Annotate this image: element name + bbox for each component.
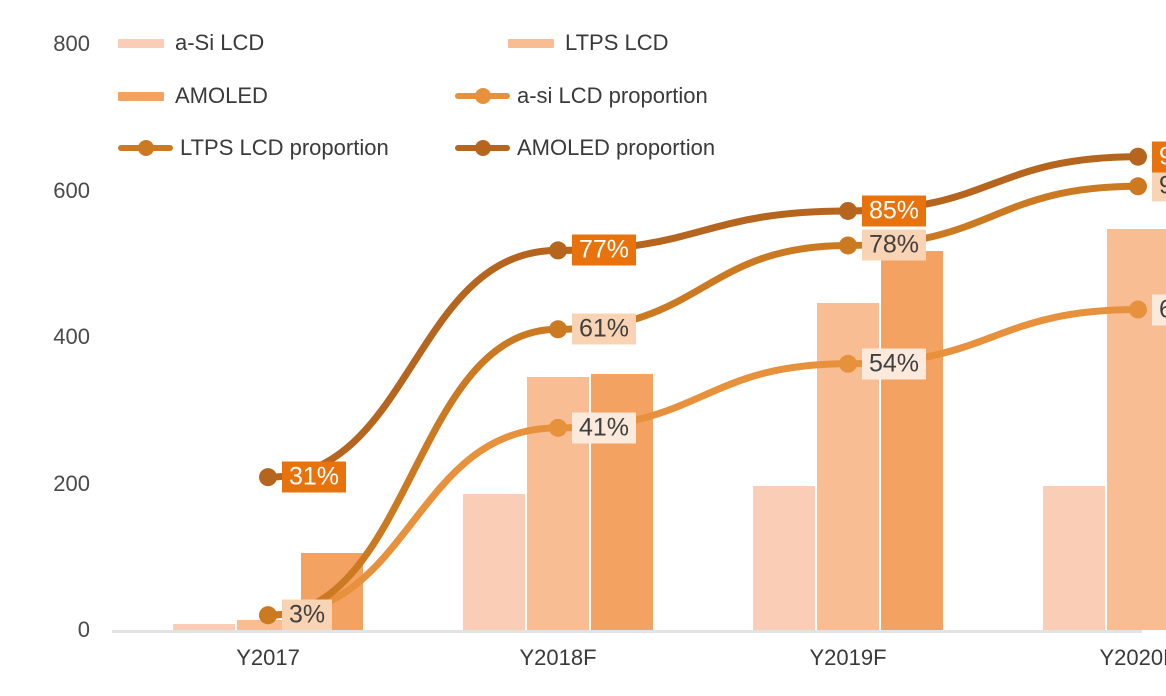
marker-ltps-lcd-proportion-Y2018F [549,320,567,338]
x-axis-line [112,630,1142,633]
data-label-amoled-proportion-Y2017: 31% [282,462,346,493]
line-ltps-lcd-proportion [268,186,1138,615]
data-label-ltps-lcd-proportion-Y2020F: 90% [1152,171,1166,202]
data-label-ltps-lcd-proportion-Y2017: 3% [282,600,332,631]
y-axis-tick-label: 800 [28,31,90,57]
data-label-ltps-lcd-proportion-Y2019F: 78% [862,230,926,261]
x-axis-tick-label-Y2019F: Y2019F [809,645,886,671]
data-label-amoled-proportion-Y2020F: 96% [1152,141,1166,172]
data-label-amoled-proportion-Y2019F: 85% [862,195,926,226]
line-amoled-proportion [268,157,1138,477]
bar-a-si-lcd-Y2018F [463,494,525,630]
data-label-a-si-lcd-proportion-Y2018F: 41% [572,412,636,443]
line-a-si-lcd-proportion [268,310,1138,616]
y-axis-tick-label: 600 [28,178,90,204]
data-label-ltps-lcd-proportion-Y2018F: 61% [572,314,636,345]
bar-a-si-lcd-Y2020F [1043,486,1105,630]
x-axis-tick-label-Y2017: Y2017 [236,645,300,671]
marker-amoled-proportion-Y2019F [839,202,857,220]
marker-amoled-proportion-Y2017 [259,468,277,486]
x-axis-tick-label-Y2020F: Y2020F [1099,645,1166,671]
y-axis-tick-label: 0 [28,617,90,643]
bar-amoled-Y2019F [881,251,943,630]
y-axis-tick-label: 200 [28,471,90,497]
chart-container: a-Si LCD LTPS LCD AMOLED a-si LCD propor… [0,0,1166,696]
bar-ltps-lcd-Y2020F [1107,229,1166,630]
data-label-amoled-proportion-Y2018F: 77% [572,235,636,266]
x-axis-tick-label-Y2018F: Y2018F [519,645,596,671]
marker-amoled-proportion-Y2018F [549,241,567,259]
marker-amoled-proportion-Y2020F [1129,148,1147,166]
plot-area: 0200400600800 3%41%54%65%3%61%78%90%31%7… [0,0,1166,696]
data-label-a-si-lcd-proportion-Y2019F: 54% [862,348,926,379]
marker-ltps-lcd-proportion-Y2020F [1129,177,1147,195]
marker-ltps-lcd-proportion-Y2019F [839,236,857,254]
data-label-a-si-lcd-proportion-Y2020F: 65% [1152,294,1166,325]
bar-a-si-lcd-Y2019F [753,486,815,630]
y-axis-tick-label: 400 [28,324,90,350]
